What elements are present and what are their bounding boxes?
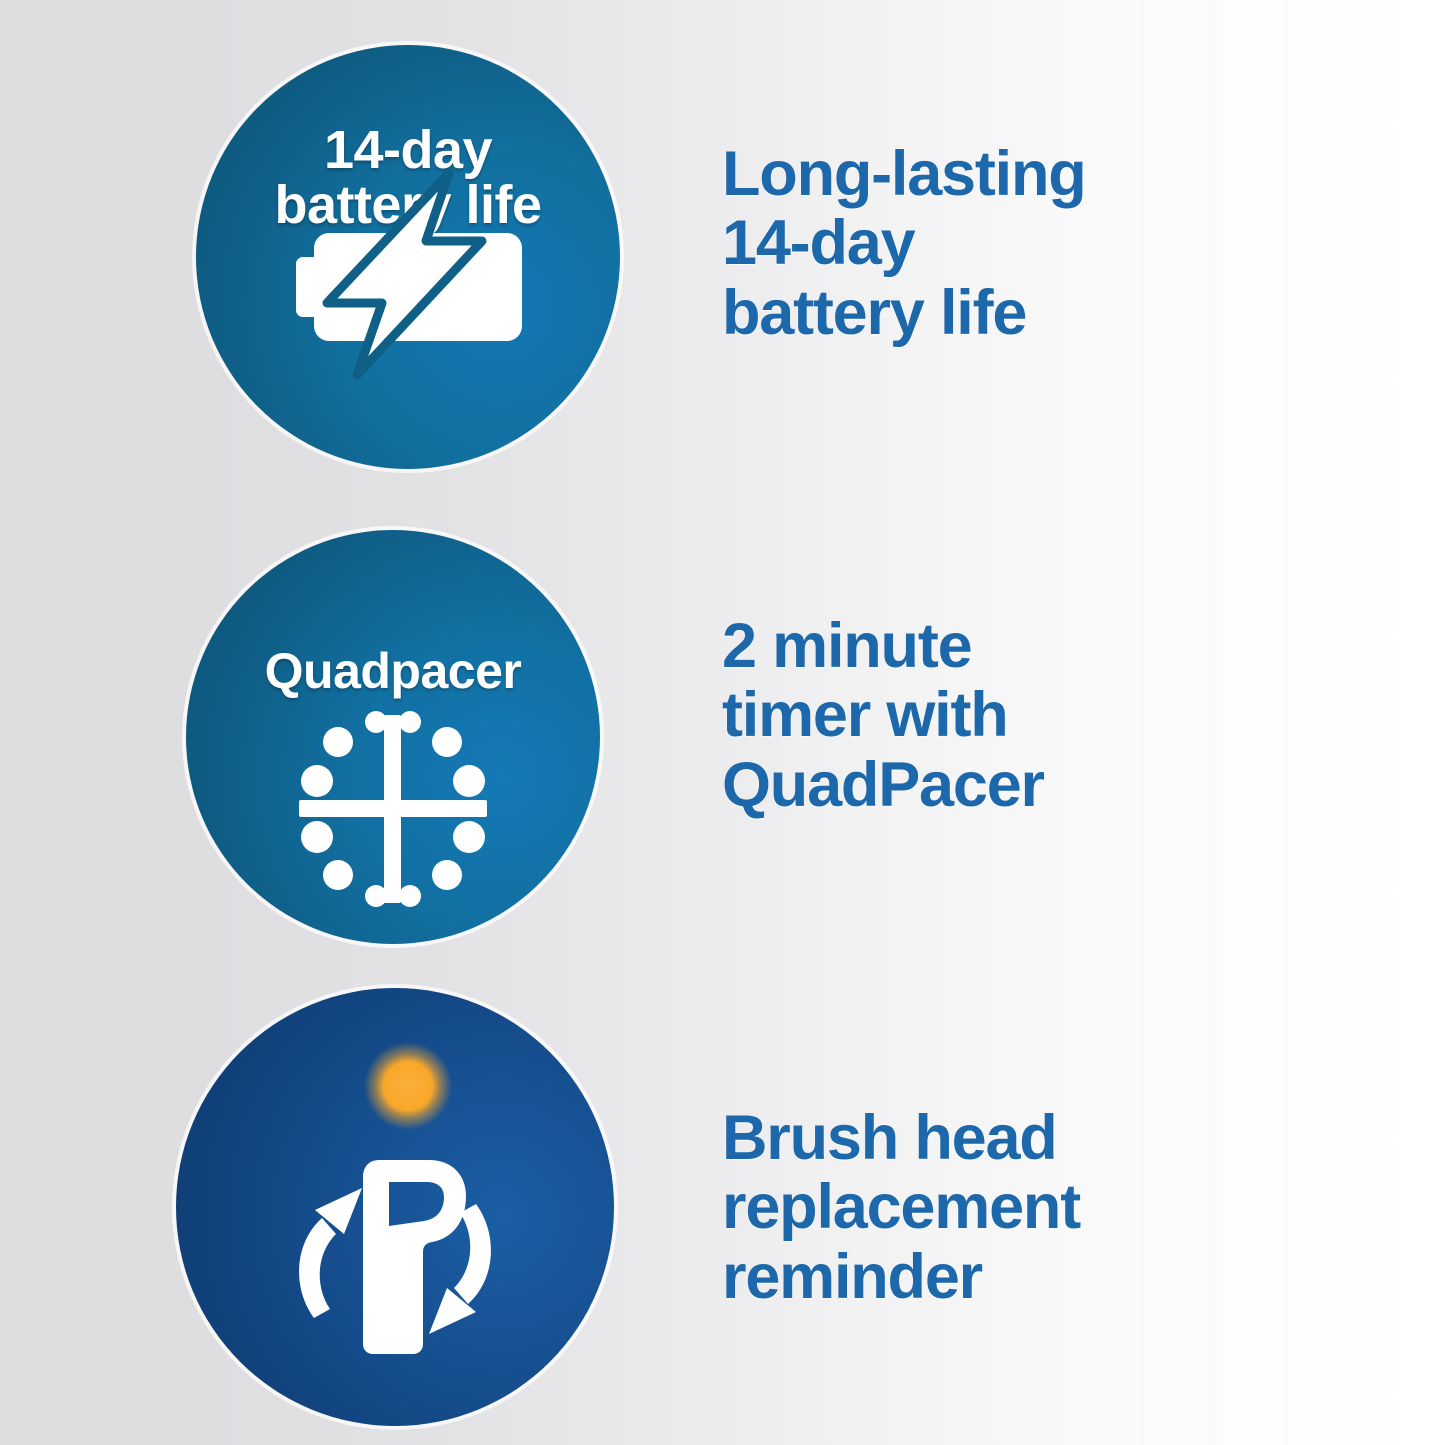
quadpacer-crosshair-icon xyxy=(186,530,600,944)
feature-badge-quadpacer: Quadpacer xyxy=(186,530,600,944)
feature-caption-quadpacer: 2 minute timer with QuadPacer xyxy=(722,612,1044,820)
battery-charging-icon xyxy=(196,45,620,469)
reminder-indicator-light xyxy=(364,1042,452,1130)
infographic-canvas: 14-day battery life Long-lasting 14-day … xyxy=(0,0,1445,1445)
brush-head-replacement-icon xyxy=(176,988,614,1426)
feature-badge-brush-head xyxy=(176,988,614,1426)
feature-caption-brush-head: Brush head replacement reminder xyxy=(722,1104,1080,1312)
feature-badge-battery: 14-day battery life xyxy=(196,45,620,469)
feature-caption-battery: Long-lasting 14-day battery life xyxy=(722,140,1086,348)
